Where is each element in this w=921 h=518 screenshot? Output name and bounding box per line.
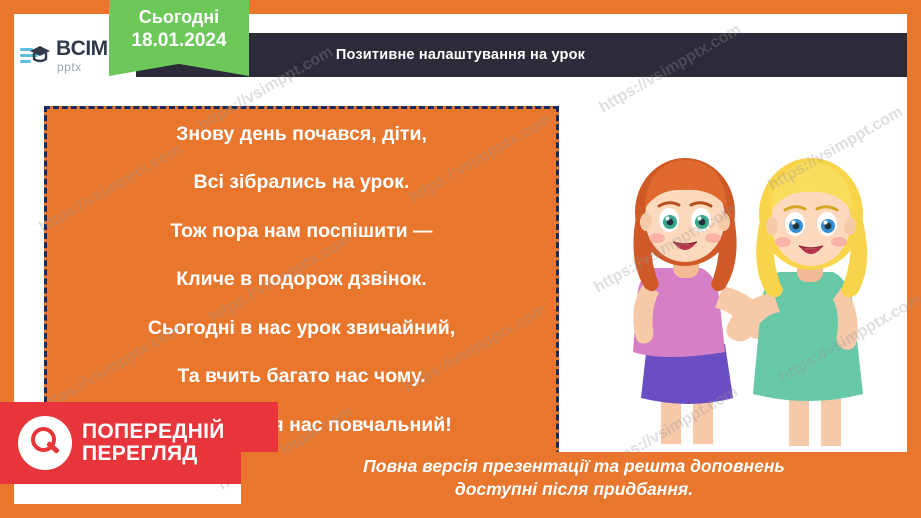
preview-badge: ПОПЕРЕДНІЙ ПЕРЕГЛЯД bbox=[0, 402, 278, 484]
poem-line: Та вчить багато нас чому. bbox=[57, 365, 546, 387]
frame-bottom-border bbox=[0, 504, 921, 518]
bottom-notice: Повна версія презентації та решта доповн… bbox=[241, 452, 907, 504]
poem-line: Кличе в подорож дзвінок. bbox=[57, 268, 546, 290]
bottom-notice-line2: доступні після придбання. bbox=[241, 478, 907, 501]
poem-line: Тож пора нам поспішити — bbox=[57, 220, 546, 242]
frame-right-border bbox=[907, 0, 921, 518]
bottom-notice-line1: Повна версія презентації та решта доповн… bbox=[241, 455, 907, 478]
date-tag-label: Сьогодні bbox=[109, 6, 249, 29]
page-title: Позитивне налаштування на урок bbox=[336, 47, 585, 63]
poem-line: Всі зібрались на урок. bbox=[57, 171, 546, 193]
date-tag-value: 18.01.2024 bbox=[109, 29, 249, 53]
two-girls-hugging-illustration bbox=[575, 86, 905, 498]
poem-line: Знову день почався, діти, bbox=[57, 123, 546, 145]
preview-badge-line2: ПЕРЕГЛЯД bbox=[82, 443, 225, 465]
logo-name: BCIM bbox=[56, 38, 108, 59]
poem-line: Сьогодні в нас урок звичайний, bbox=[57, 317, 546, 339]
preview-badge-line1: ПОПЕРЕДНІЙ bbox=[82, 421, 225, 443]
graduation-cap-icon bbox=[20, 42, 50, 68]
logo-subtitle: pptx bbox=[57, 61, 108, 73]
slide: Позитивне налаштування на урок BCIM pptx… bbox=[0, 0, 921, 518]
magnifier-icon bbox=[18, 416, 72, 470]
